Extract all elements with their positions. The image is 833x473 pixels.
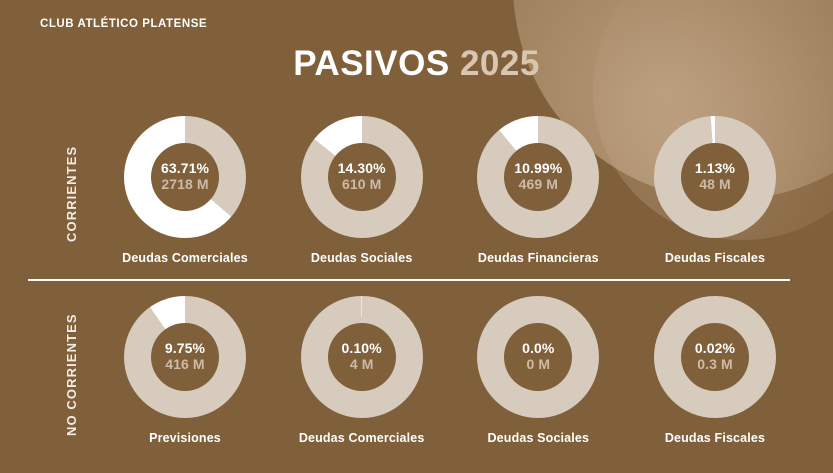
- donut-chart-cell: 0.0%0 MDeudas Sociales: [453, 296, 623, 445]
- donut-chart[interactable]: 63.71%2718 M: [124, 116, 246, 238]
- donut-category-label: Deudas Fiscales: [665, 251, 765, 265]
- donut-chart-cell: 10.99%469 MDeudas Financieras: [453, 116, 623, 265]
- donut-chart-cell: 63.71%2718 MDeudas Comerciales: [100, 116, 270, 265]
- donut-category-label: Deudas Comerciales: [299, 431, 425, 445]
- infographic-canvas: CLUB ATLÉTICO PLATENSE PASIVOS 2025 CORR…: [0, 0, 833, 473]
- donut-percent-value: 10.99%: [514, 161, 562, 177]
- donut-amount-value: 469 M: [519, 177, 558, 193]
- donut-chart-cell: 0.02%0.3 MDeudas Fiscales: [630, 296, 800, 445]
- donut-chart-cell: 0.10%4 MDeudas Comerciales: [277, 296, 447, 445]
- donut-percent-value: 0.02%: [695, 341, 735, 357]
- donut-category-label: Deudas Sociales: [311, 251, 413, 265]
- donut-amount-value: 4 M: [350, 357, 374, 373]
- donut-center-labels: 0.02%0.3 M: [681, 323, 749, 391]
- page-title-main: PASIVOS: [293, 44, 450, 83]
- donut-chart-cell: 9.75%416 MPrevisiones: [100, 296, 270, 445]
- donut-chart[interactable]: 9.75%416 M: [124, 296, 246, 418]
- donut-chart[interactable]: 0.10%4 M: [301, 296, 423, 418]
- donut-center-labels: 1.13%48 M: [681, 143, 749, 211]
- donut-percent-value: 1.13%: [695, 161, 735, 177]
- donut-amount-value: 0.3 M: [697, 357, 733, 373]
- donut-center-labels: 0.0%0 M: [504, 323, 572, 391]
- donut-center-labels: 9.75%416 M: [151, 323, 219, 391]
- donut-percent-value: 14.30%: [338, 161, 386, 177]
- donut-row-no-corrientes: 9.75%416 MPrevisiones0.10%4 MDeudas Come…: [100, 296, 800, 445]
- donut-center-labels: 10.99%469 M: [504, 143, 572, 211]
- donut-center-labels: 14.30%610 M: [328, 143, 396, 211]
- donut-category-label: Previsiones: [149, 431, 221, 445]
- section-label-no-corrientes: NO CORRIENTES: [64, 302, 79, 448]
- page-title: PASIVOS 2025: [0, 44, 833, 84]
- donut-amount-value: 610 M: [342, 177, 381, 193]
- donut-percent-value: 0.10%: [342, 341, 382, 357]
- donut-center-labels: 63.71%2718 M: [151, 143, 219, 211]
- donut-chart-cell: 14.30%610 MDeudas Sociales: [277, 116, 447, 265]
- donut-category-label: Deudas Financieras: [478, 251, 599, 265]
- donut-row-corrientes: 63.71%2718 MDeudas Comerciales14.30%610 …: [100, 116, 800, 265]
- donut-category-label: Deudas Fiscales: [665, 431, 765, 445]
- section-label-corrientes: CORRIENTES: [64, 136, 79, 252]
- section-divider: [28, 279, 790, 281]
- donut-amount-value: 48 M: [699, 177, 731, 193]
- donut-chart[interactable]: 10.99%469 M: [477, 116, 599, 238]
- club-name: CLUB ATLÉTICO PLATENSE: [40, 18, 207, 30]
- donut-percent-value: 63.71%: [161, 161, 209, 177]
- donut-chart[interactable]: 14.30%610 M: [301, 116, 423, 238]
- donut-amount-value: 416 M: [165, 357, 204, 373]
- page-title-year: 2025: [460, 44, 540, 83]
- donut-percent-value: 0.0%: [522, 341, 554, 357]
- donut-center-labels: 0.10%4 M: [328, 323, 396, 391]
- donut-chart[interactable]: 0.02%0.3 M: [654, 296, 776, 418]
- donut-category-label: Deudas Sociales: [488, 431, 590, 445]
- donut-amount-value: 0 M: [526, 357, 550, 373]
- donut-chart[interactable]: 0.0%0 M: [477, 296, 599, 418]
- donut-category-label: Deudas Comerciales: [122, 251, 248, 265]
- donut-chart-cell: 1.13%48 MDeudas Fiscales: [630, 116, 800, 265]
- donut-percent-value: 9.75%: [165, 341, 205, 357]
- donut-chart[interactable]: 1.13%48 M: [654, 116, 776, 238]
- donut-amount-value: 2718 M: [161, 177, 208, 193]
